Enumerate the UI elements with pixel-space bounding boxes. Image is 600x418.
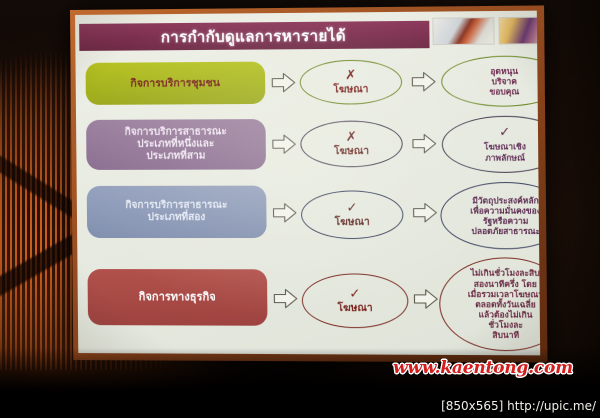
category-label-1: กิจการบริการชุมชน — [130, 77, 220, 90]
result-line: เพื่อความมั่นคงของ — [462, 205, 540, 215]
diagram-row-2: กิจการบริการสาธารณะ ประเภทที่หนึ่งและ ปร… — [76, 113, 538, 179]
status-label-1: โฆษณา — [333, 84, 368, 96]
arrow-right-icon — [411, 199, 438, 225]
result-line: ตลอดทั้งวันเฉลี่ย — [467, 299, 540, 310]
category-box-3: กิจการบริการสาธารณะ ประเภทที่สอง — [87, 186, 267, 238]
arrow-right-icon — [272, 285, 299, 311]
slide-title-band: การกำกับดูแลการหารายได้ — [79, 21, 429, 51]
status-mark-1: ✗ — [345, 69, 356, 82]
status-mark-3: ✓ — [346, 201, 357, 214]
category-label-line: กิจการบริการสาธารณะ — [125, 200, 227, 212]
result-check-mark: ✓ — [499, 126, 510, 139]
result-line: ไม่เกินชั่วโมงละสิบ — [462, 268, 540, 278]
diagram-row-4: กิจการทางธุรกิจ ✓ โฆษณา ไม่เกินชั่วโมงละ… — [77, 255, 540, 355]
result-line: สองนาทีครึ่ง โดย — [465, 278, 540, 289]
result-line: รัฐหรือความ — [475, 216, 537, 226]
result-line: ภาพลักษณ์ — [477, 152, 533, 163]
presentation-slide: การกำกับดูแลการหารายได้ กิจการบริการชุมช… — [75, 11, 540, 356]
result-line: บริจาค — [483, 76, 525, 87]
advertising-status-ellipse-1: ✗ โฆษณา — [300, 60, 403, 105]
result-line: ชั่วโมงละ — [480, 320, 531, 331]
arrow-right-icon — [410, 68, 437, 95]
diagram-row-3: กิจการบริการสาธารณะ ประเภทที่สอง ✓ โฆษณา… — [77, 178, 540, 256]
status-mark-4: ✓ — [349, 287, 360, 300]
category-box-2: กิจการบริการสาธารณะ ประเภทที่หนึ่งและ ปร… — [86, 119, 266, 170]
result-ellipse-2: ✓ โฆษณาเชิง ภาพลักษณ์ — [442, 116, 541, 174]
result-line: เมื่อรวมเวลาโฆษณา — [459, 289, 540, 300]
result-ellipse-1: อุดหนุน บริจาค ขอบคุณ — [441, 55, 540, 107]
result-ellipse-3: มีวัตถุประสงค์หลัก เพื่อความมั่นคงของ รั… — [440, 182, 540, 249]
result-line: ขอบคุณ — [481, 86, 528, 97]
site-watermark: www.kaentong.com — [393, 358, 573, 378]
status-label-4: โฆษณา — [337, 302, 372, 314]
result-line: สิบนาที — [484, 330, 527, 341]
advertising-status-ellipse-4: ✓ โฆษณา — [302, 273, 409, 328]
category-label-line: ประเภทที่สอง — [125, 212, 227, 224]
category-label-4: กิจการทางธุรกิจ — [139, 290, 216, 304]
status-label-3: โฆษณา — [335, 216, 370, 228]
category-box-1: กิจการบริการชุมชน — [86, 62, 266, 105]
arrow-right-icon — [411, 130, 438, 156]
arrow-right-icon — [412, 286, 439, 312]
projection-screen-frame: การกำกับดูแลการหารายได้ กิจการบริการชุมช… — [70, 5, 548, 362]
result-line: โฆษณาเชิง — [476, 142, 535, 153]
category-box-4: กิจการทางธุรกิจ — [87, 269, 267, 326]
result-line: อุดหนุน — [482, 65, 526, 76]
decorative-photo-left-icon — [432, 17, 494, 45]
image-dimension-caption: [850x565] http://upic.me/ — [441, 399, 596, 413]
result-line: ปลอดภัยสาธารณะ — [463, 226, 540, 236]
status-label-2: โฆษณา — [334, 145, 369, 157]
category-label-line: ประเภทที่หนึ่งและ — [125, 138, 227, 151]
arrow-right-icon — [271, 131, 298, 157]
status-mark-2: ✗ — [346, 130, 357, 143]
arrow-right-icon — [271, 200, 298, 226]
diagram-row-1: กิจการบริการชุมชน ✗ โฆษณา อุดหนุน บริจาค… — [75, 53, 537, 115]
category-label-line: ประเภทที่สาม — [125, 151, 227, 164]
advertising-status-ellipse-3: ✓ โฆษณา — [301, 190, 404, 239]
decorative-photo-right-icon — [498, 17, 540, 45]
result-ellipse-4: ไม่เกินชั่วโมงละสิบ สองนาทีครึ่ง โดย เมื… — [439, 257, 540, 351]
result-line: แล้วต้องไม่เกิน — [470, 309, 540, 320]
arrow-right-icon — [270, 69, 297, 95]
projection-screen: การกำกับดูแลการหารายได้ กิจการบริการชุมช… — [75, 11, 540, 356]
slide-title: การกำกับดูแลการหารายได้ — [161, 23, 346, 49]
result-line: มีวัตถุประสงค์หลัก — [464, 195, 540, 205]
advertising-status-ellipse-2: ✗ โฆษณา — [300, 120, 403, 167]
category-label-line: กิจการบริการสาธารณะ — [125, 126, 227, 139]
